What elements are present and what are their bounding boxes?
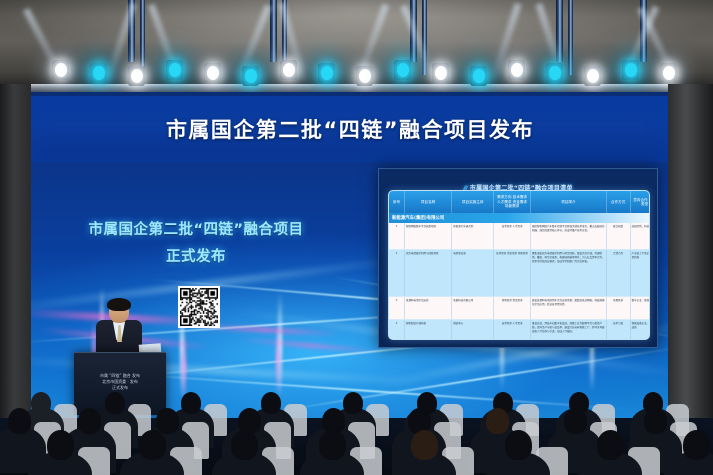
table-cell: 场景开放 (607, 297, 631, 319)
table-cell: 围绕智能网联汽车整车控制平台开展关键技术攻关，重点突破域控制器、线控底盘等核心环… (531, 223, 607, 249)
podium-text: 市属 “四链” 融合 发布 北京市国资委 · 发布 正式发布 (74, 373, 166, 392)
table-section-label: 新能源汽车(集团)有限公司 (392, 215, 444, 221)
audience-head (683, 430, 710, 460)
table-cell: 智能装备企业、系统集成商 (631, 320, 650, 340)
conference-stage-photo: 市属国企第二批“四链”融合项目发布 市属国企第二批“四链”融合项目 正式发布 /… (0, 0, 713, 475)
table-cell: 建设氢燃料电池商用车示范运营场景，配套加氢站网络，开展规模化示范应用，验证技术经… (531, 297, 607, 319)
table-cell: 聚焦退役动力电池梯次利用与再生回收，建设示范产线，打通检测、重组、再生全链条，构… (531, 250, 607, 296)
table-cell: 技术需求 人才需求 (494, 223, 531, 249)
audience-head (644, 408, 667, 434)
audience-head (564, 408, 587, 434)
stage-light-white (356, 66, 373, 86)
stage-light-cyan (470, 66, 487, 86)
table-cell: 技术需求 人才需求 (494, 320, 531, 340)
table-row[interactable]: 4智能制造产线升级制造中心技术需求 人才需求推进总装、焊装车间数字化改造，部署工… (389, 320, 649, 340)
magenta-cross-beam (182, 332, 186, 402)
speaker-hair (107, 298, 131, 311)
table-cell: 电池事业部 (452, 250, 494, 296)
stage-light-white (52, 60, 69, 80)
table-header-cell: 项目简介 (531, 191, 607, 213)
slide-headline: 市属国企第二批“四链”融合项目 正式发布 (62, 218, 330, 266)
table-cell: 技术需求 资金需求 场景需求 (494, 250, 531, 296)
table-header-cell: 项目名称 (405, 191, 452, 213)
table-cell: 场景需求 资金需求 (494, 297, 531, 319)
table-cell: 高校院所、科技型企业 (631, 223, 650, 249)
audience-head (597, 430, 624, 460)
table-body: 1智能网联整车平台研发项目新能源汽车研究院技术需求 人才需求围绕智能网联汽车整车… (389, 223, 649, 340)
audience-head (8, 408, 31, 434)
lamp-lens (131, 69, 143, 83)
table-cell: 制造中心 (452, 320, 494, 340)
lamp-lens (55, 63, 67, 77)
lamp-lens (207, 66, 219, 80)
lamp-lens (93, 66, 105, 80)
table-header-cell: 项目实施主体 (452, 191, 494, 213)
lamp-lens (321, 66, 333, 80)
table-cell: 技术引进 (607, 320, 631, 340)
stage-light-white (660, 63, 677, 83)
audience-head (411, 430, 438, 460)
table-row[interactable]: 2动力电池梯次利用与回收项目电池事业部技术需求 资金需求 场景需求聚焦退役动力电… (389, 250, 649, 297)
audience-head (319, 430, 346, 460)
audience-head (486, 408, 509, 434)
qr-code-image (180, 288, 218, 326)
stage-light-cyan (318, 63, 335, 83)
table-cell: 1 (389, 223, 405, 249)
podium-line3: 正式发布 (74, 385, 166, 391)
banner-title: 市属国企第二批“四链”融合项目发布 (166, 114, 534, 144)
stage-light-white (280, 60, 297, 80)
lamp-lens (625, 63, 637, 77)
table-cell: 整车企业、能源企业 (631, 297, 650, 319)
qr-code[interactable] (178, 286, 220, 328)
table-header-cell: 合作方式 (607, 191, 631, 213)
audience-head (31, 392, 51, 414)
table-section-row: 新能源汽车(集团)有限公司 (389, 213, 649, 223)
table-cell: 合资合作 (607, 250, 631, 296)
truss-post (140, 0, 145, 75)
audience-head (105, 392, 125, 414)
table-row[interactable]: 3氢燃料电池示范运营氢能科技有限公司场景需求 资金需求建设氢燃料电池商用车示范运… (389, 297, 649, 320)
table-cell: 氢燃料电池示范运营 (405, 297, 452, 319)
stage-light-white (508, 60, 525, 80)
slide-headline-line1: 市属国企第二批“四链”融合项目 (62, 218, 330, 239)
stage-light-cyan (166, 60, 183, 80)
lamp-lens (397, 63, 409, 77)
stage-light-cyan (90, 63, 107, 83)
event-banner: 市属国企第二批“四链”融合项目发布 (30, 96, 670, 162)
stage-light-white (432, 63, 449, 83)
lamp-lens (473, 69, 485, 83)
table-cell: 动力电池梯次利用与回收项目 (405, 250, 452, 296)
projected-slide-panel: ///市属国企第二批“四链”融合项目清单 序号项目名称项目实施主体需求方向 技术… (378, 168, 658, 348)
audience-head (505, 430, 532, 460)
audience-head (231, 430, 258, 460)
audience-head (78, 408, 101, 434)
table-header-cell: 需求方向 技术需求 人才需求 资金需求 场景需求 (494, 191, 531, 213)
table-cell: 2 (389, 250, 405, 296)
table-cell: 推进总装、焊装车间数字化改造，部署工业互联网平台与柔性产线，提升生产节拍与良品率… (531, 320, 607, 340)
truss-post (270, 0, 277, 62)
audience-head (261, 392, 281, 414)
truss-post (568, 0, 573, 75)
stage-light-white (204, 63, 221, 83)
lamp-lens (435, 66, 447, 80)
table-row[interactable]: 1智能网联整车平台研发项目新能源汽车研究院技术需求 人才需求围绕智能网联汽车整车… (389, 223, 649, 250)
audience-head (47, 430, 74, 460)
stage-light-cyan (242, 66, 259, 86)
table-cell: 氢能科技有限公司 (452, 297, 494, 319)
table-cell: 4 (389, 320, 405, 340)
stage-light-cyan (394, 60, 411, 80)
table-cell: 智能网联整车平台研发项目 (405, 223, 452, 249)
table-cell: 智能制造产线升级 (405, 320, 452, 340)
table-cell: 新能源汽车研究院 (452, 223, 494, 249)
audience-head (156, 408, 179, 434)
lamp-lens (169, 63, 181, 77)
stage-light-cyan (546, 63, 563, 83)
stage-light-white (128, 66, 145, 86)
lamp-lens (663, 66, 675, 80)
lamp-lens (283, 63, 295, 77)
lamp-lens (549, 66, 561, 80)
audience-head (181, 392, 201, 414)
lamp-lens (511, 63, 523, 77)
project-list-table: 序号项目名称项目实施主体需求方向 技术需求 人才需求 资金需求 场景需求项目简介… (388, 190, 650, 340)
table-header-cell: 意向合作 单位类型 (631, 191, 650, 213)
stage-light-white (584, 66, 601, 86)
stage-light-cyan (622, 60, 639, 80)
audience-head (343, 392, 363, 414)
lamp-lens (587, 69, 599, 83)
audience-head (139, 430, 166, 460)
lamp-lens (245, 69, 257, 83)
table-header-row: 序号项目名称项目实施主体需求方向 技术需求 人才需求 资金需求 场景需求项目简介… (389, 191, 649, 213)
magenta-cross-beam (276, 324, 280, 394)
table-cell: 联合研发 (607, 223, 631, 249)
table-cell: 3 (389, 297, 405, 319)
table-cell: 产业链上下游企业、投资机构 (631, 250, 650, 296)
slide-headline-line2: 正式发布 (62, 245, 330, 266)
table-header-cell: 序号 (389, 191, 405, 213)
lamp-lens (359, 69, 371, 83)
